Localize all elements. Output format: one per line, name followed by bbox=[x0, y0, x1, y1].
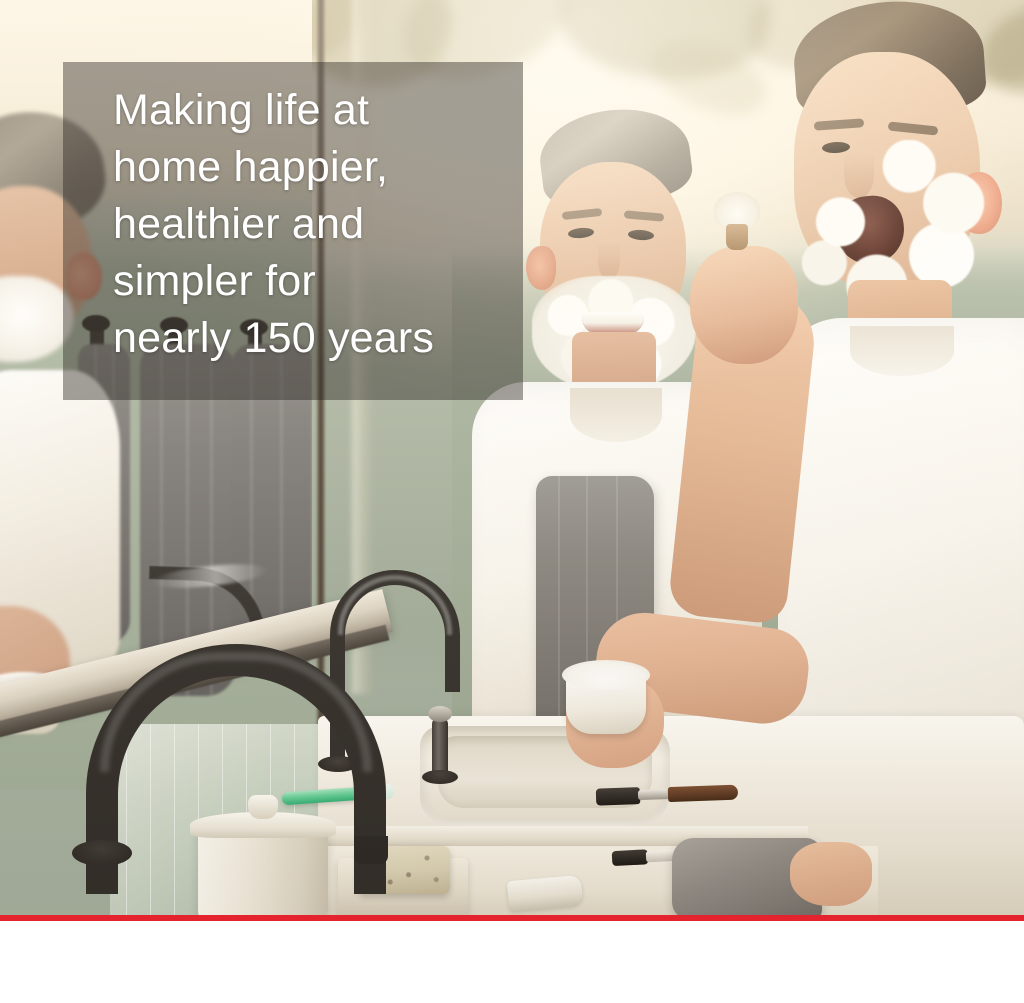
footer-bar: American Standard bbox=[0, 921, 1024, 1003]
father-nose bbox=[598, 242, 620, 280]
headline-text: Making life at home happier, healthier a… bbox=[113, 82, 533, 367]
shaving-brush-icon bbox=[714, 192, 760, 246]
brush-handle bbox=[726, 224, 748, 250]
faucet-handle bbox=[432, 718, 448, 778]
faucet-highlight bbox=[100, 652, 372, 772]
hero-photo: Making life at home happier, healthier a… bbox=[0, 0, 1024, 915]
father-smile bbox=[582, 312, 644, 334]
son-hand bbox=[690, 246, 798, 364]
faucet-spout-tip bbox=[354, 836, 388, 864]
brush-bristles bbox=[714, 192, 760, 228]
advertisement-card: Making life at home happier, healthier a… bbox=[0, 0, 1024, 1003]
primary-gooseneck-faucet bbox=[86, 644, 386, 844]
father-collar bbox=[570, 388, 662, 442]
shaving-cup bbox=[566, 674, 646, 734]
toothpaste-tube-icon bbox=[507, 875, 583, 911]
faucet-base bbox=[72, 840, 132, 866]
son-hand-on-hip bbox=[790, 842, 872, 906]
son-collar bbox=[850, 326, 954, 376]
